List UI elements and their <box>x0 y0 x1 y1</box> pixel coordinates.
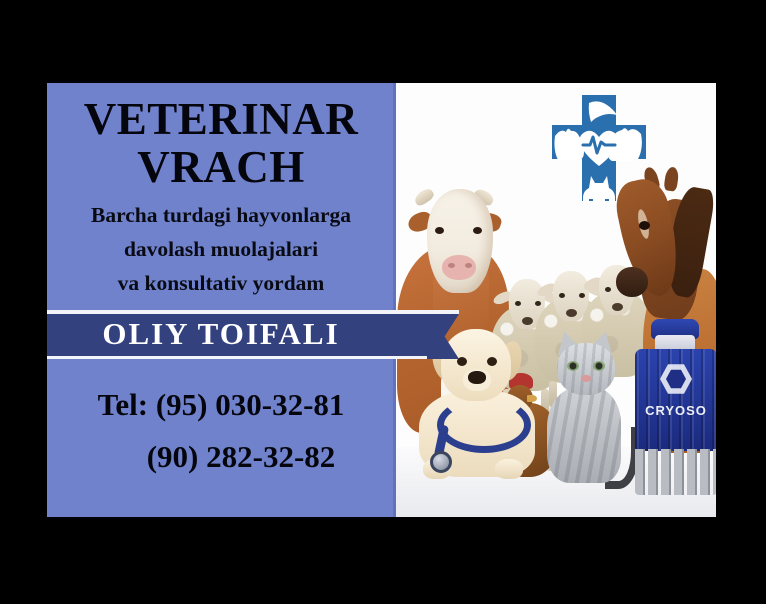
ribbon-top-rule <box>47 310 439 314</box>
ribbon-tail-rule <box>427 310 459 314</box>
ribbon-label: OLIY TOIFALI <box>47 318 395 349</box>
cat-eye-left <box>567 361 579 371</box>
tank-brand-label: CRYOSO <box>633 403 716 418</box>
stethoscope-tube <box>437 397 531 453</box>
puppy-nose <box>468 371 486 384</box>
sheep-eye-left <box>515 301 521 306</box>
cow-nostril-right <box>465 263 472 268</box>
cow-eye-right <box>473 227 482 234</box>
cat-nose <box>581 375 591 382</box>
headline-line-2: VRACH <box>47 145 395 190</box>
cow-horn-left <box>412 186 435 207</box>
info-panel: VETERINAR VRACH Barcha turdagi hayvonlar… <box>47 83 395 517</box>
headline-line-1: VETERINAR <box>47 97 395 142</box>
puppy-eye-right <box>487 357 497 366</box>
cat-illustration <box>535 331 631 483</box>
phone-number-secondary: (90) 282-32-82 <box>47 441 395 472</box>
horse-eye <box>639 221 650 230</box>
sheep-eye-left <box>559 293 565 298</box>
subtitle-line-1: Barcha turdagi hayvonlarga <box>47 205 395 227</box>
subtitle-line-2: davolash muolajalari <box>47 239 395 261</box>
cat-body <box>547 387 621 483</box>
horse-ear-right <box>663 166 679 192</box>
business-card: VETERINAR VRACH Barcha turdagi hayvonlar… <box>47 83 716 517</box>
horse-muzzle <box>616 267 648 297</box>
sheep-nose <box>566 309 577 317</box>
phone-number-primary: Tel: (95) 030-32-81 <box>47 389 395 420</box>
cow-eye-left <box>435 227 444 234</box>
tank-legs <box>635 449 716 495</box>
subtitle-line-3: va konsultativ yordam <box>47 273 395 295</box>
panel-edge-divider <box>393 83 396 517</box>
cow-muzzle <box>442 255 476 280</box>
cryogenic-tank: CRYOSO <box>633 319 716 499</box>
veterinary-cross-logo <box>541 90 657 206</box>
cow-nostril-left <box>448 263 455 268</box>
photo-collage: CRYOSO <box>395 83 716 517</box>
puppy-paw-right <box>495 459 523 479</box>
advertisement-poster: VETERINAR VRACH Barcha turdagi hayvonlar… <box>0 0 766 604</box>
cat-head <box>557 343 615 395</box>
cat-eye-right <box>593 361 605 371</box>
stethoscope-bell <box>430 451 452 473</box>
